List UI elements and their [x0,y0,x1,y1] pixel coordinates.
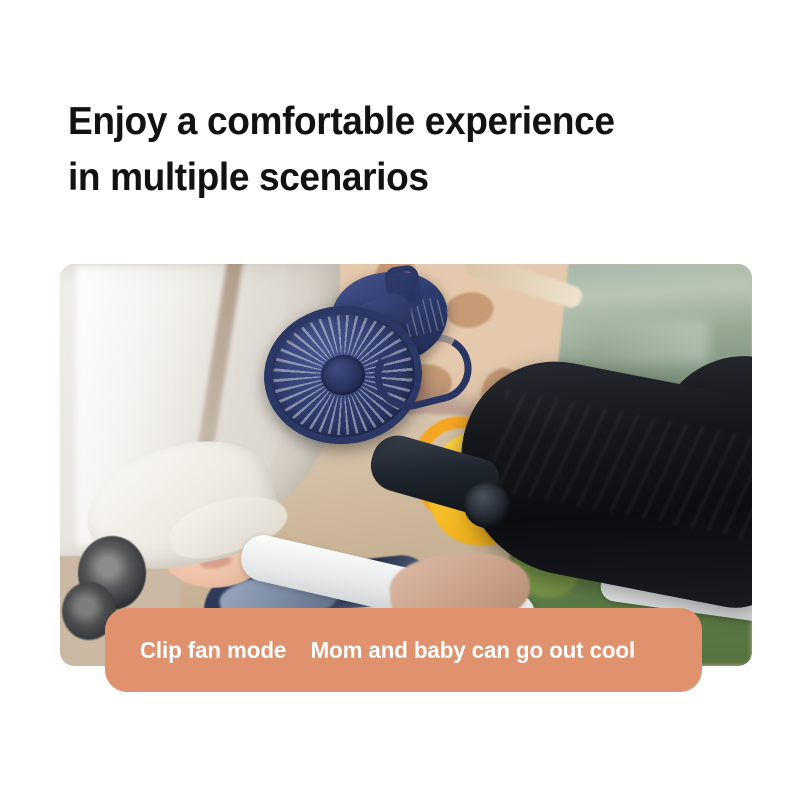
page-title: Enjoy a comfortable experience in multip… [68,94,695,206]
caption-banner: Clip fan mode Mom and baby can go out co… [105,608,702,692]
clip-fan [258,272,448,447]
product-feature-banner: Enjoy a comfortable experience in multip… [0,0,800,800]
product-lifestyle-photo [60,264,752,666]
caption-text: Clip fan mode Mom and baby can go out co… [105,637,635,664]
headline-line-1: Enjoy a comfortable experience [68,94,695,150]
photo-canvas [60,264,752,666]
headline-line-2: in multiple scenarios [68,150,695,206]
